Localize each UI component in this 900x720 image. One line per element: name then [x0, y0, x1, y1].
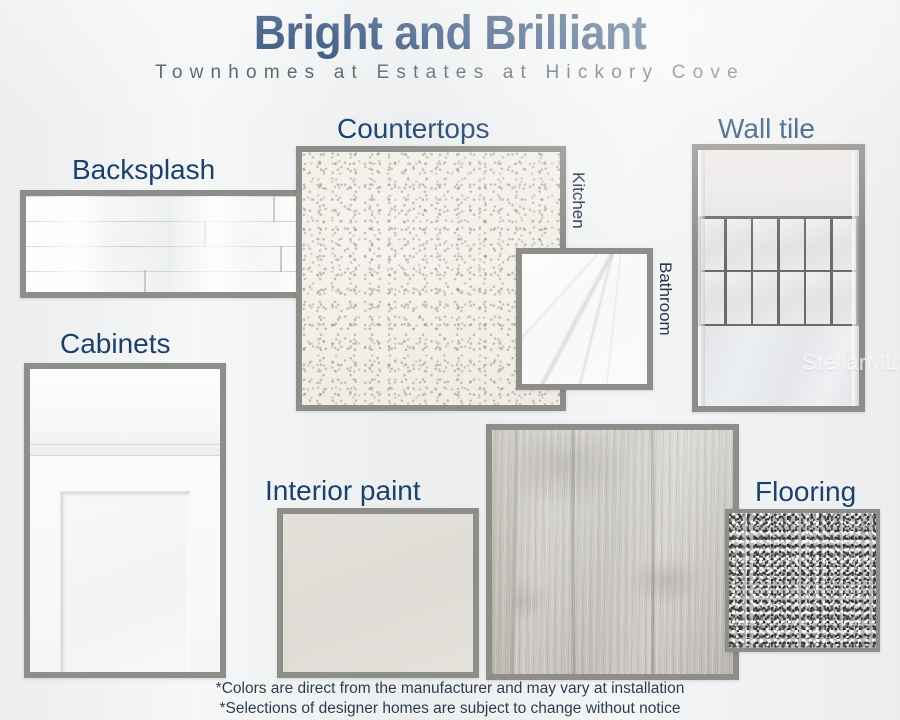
swatch-countertop-bathroom[interactable]: [516, 248, 653, 390]
swatch-wall-tile[interactable]: [692, 144, 865, 412]
cabinet-door-front: [30, 457, 220, 672]
sublabel-kitchen: Kitchen: [568, 172, 588, 229]
label-cabinets: Cabinets: [60, 328, 171, 360]
swatch-backsplash[interactable]: [20, 190, 310, 298]
interior-paint-color: [283, 514, 473, 672]
backsplash-texture: [26, 196, 304, 292]
design-selections-board: Bright and Brilliant Townhomes at Estate…: [0, 0, 900, 720]
label-countertops: Countertops: [337, 113, 490, 145]
label-wall-tile: Wall tile: [718, 113, 815, 145]
disclaimer-line-2: *Selections of designer homes are subjec…: [0, 699, 900, 719]
swatch-carpet-flooring[interactable]: [725, 509, 880, 652]
cabinet-recessed-panel: [60, 491, 190, 678]
label-flooring: Flooring: [755, 476, 856, 508]
sublabel-bathroom: Bathroom: [655, 262, 675, 336]
swatch-interior-paint[interactable]: [277, 508, 479, 678]
swatch-wood-flooring[interactable]: [486, 424, 739, 680]
wall-tile-mosaic-band: [698, 216, 859, 326]
label-interior-paint: Interior paint: [265, 475, 421, 507]
cabinet-door-texture: [30, 369, 220, 672]
countertop-bathroom-texture: [522, 254, 647, 384]
cabinet-drawer-front: [30, 369, 220, 456]
wood-plank-texture: [492, 430, 733, 674]
swatch-cabinets[interactable]: [24, 363, 226, 678]
wall-tile-texture: [698, 150, 859, 406]
label-backsplash: Backsplash: [72, 154, 215, 186]
carpet-texture: [729, 513, 876, 648]
disclaimer-line-1: *Colors are direct from the manufacturer…: [0, 679, 900, 699]
page-title: Bright and Brilliant: [32, 6, 869, 61]
page-subtitle: Townhomes at Estates at Hickory Cove: [0, 62, 900, 84]
